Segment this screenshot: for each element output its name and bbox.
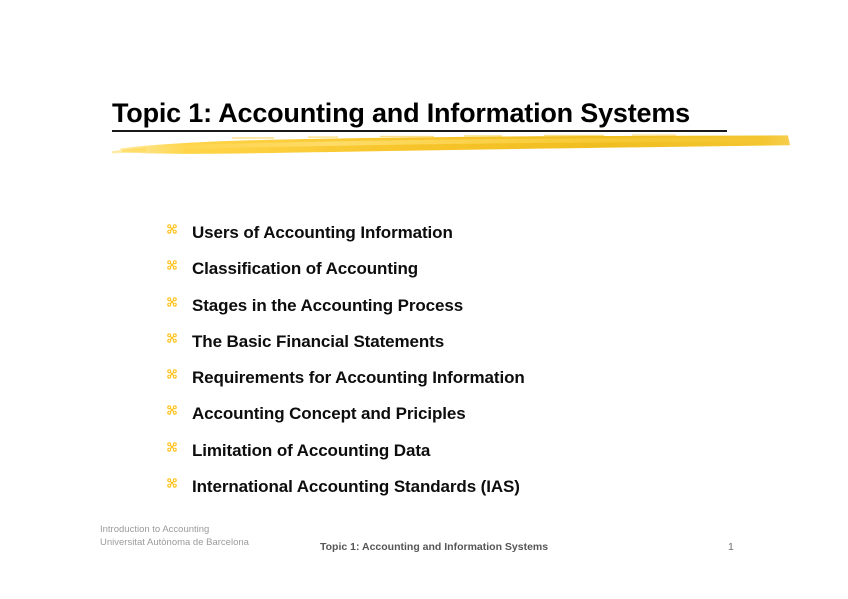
footer-institution-name: Universitat Autònoma de Barcelona: [100, 537, 249, 550]
loop-bullet-icon: [166, 295, 192, 310]
title-block: Topic 1: Accounting and Information Syst…: [112, 96, 752, 158]
bullet-label: Requirements for Accounting Information: [192, 367, 786, 389]
list-item: Stages in the Accounting Process: [166, 295, 786, 331]
list-item: Classification of Accounting: [166, 258, 786, 294]
bullet-label: International Accounting Standards (IAS): [192, 476, 786, 498]
title-underline: [112, 130, 727, 132]
bullet-label: The Basic Financial Statements: [192, 331, 786, 353]
list-item: The Basic Financial Statements: [166, 331, 786, 367]
loop-bullet-icon: [166, 258, 192, 273]
footer-course-block: Introduction to Accounting Universitat A…: [100, 524, 249, 549]
bullet-label: Stages in the Accounting Process: [192, 295, 786, 317]
list-item: Accounting Concept and Priciples: [166, 403, 786, 439]
loop-bullet-icon: [166, 367, 192, 382]
loop-bullet-icon: [166, 476, 192, 491]
bullet-label: Users of Accounting Information: [192, 222, 786, 244]
presentation-slide: Topic 1: Accounting and Information Syst…: [0, 0, 848, 599]
list-item: International Accounting Standards (IAS): [166, 476, 786, 512]
slide-page-number: 1: [728, 541, 748, 553]
bullet-list: Users of Accounting Information Classifi…: [166, 222, 786, 512]
list-item: Requirements for Accounting Information: [166, 367, 786, 403]
footer-topic-title: Topic 1: Accounting and Information Syst…: [320, 541, 548, 553]
list-item: Users of Accounting Information: [166, 222, 786, 258]
loop-bullet-icon: [166, 222, 192, 237]
loop-bullet-icon: [166, 331, 192, 346]
loop-bullet-icon: [166, 440, 192, 455]
bullet-label: Accounting Concept and Priciples: [192, 403, 786, 425]
page-title: Topic 1: Accounting and Information Syst…: [112, 96, 690, 130]
footer-course-name: Introduction to Accounting: [100, 524, 249, 537]
loop-bullet-icon: [166, 403, 192, 418]
slide-footer: Introduction to Accounting Universitat A…: [0, 520, 848, 560]
list-item: Limitation of Accounting Data: [166, 440, 786, 476]
bullet-label: Classification of Accounting: [192, 258, 786, 280]
bullet-label: Limitation of Accounting Data: [192, 440, 786, 462]
